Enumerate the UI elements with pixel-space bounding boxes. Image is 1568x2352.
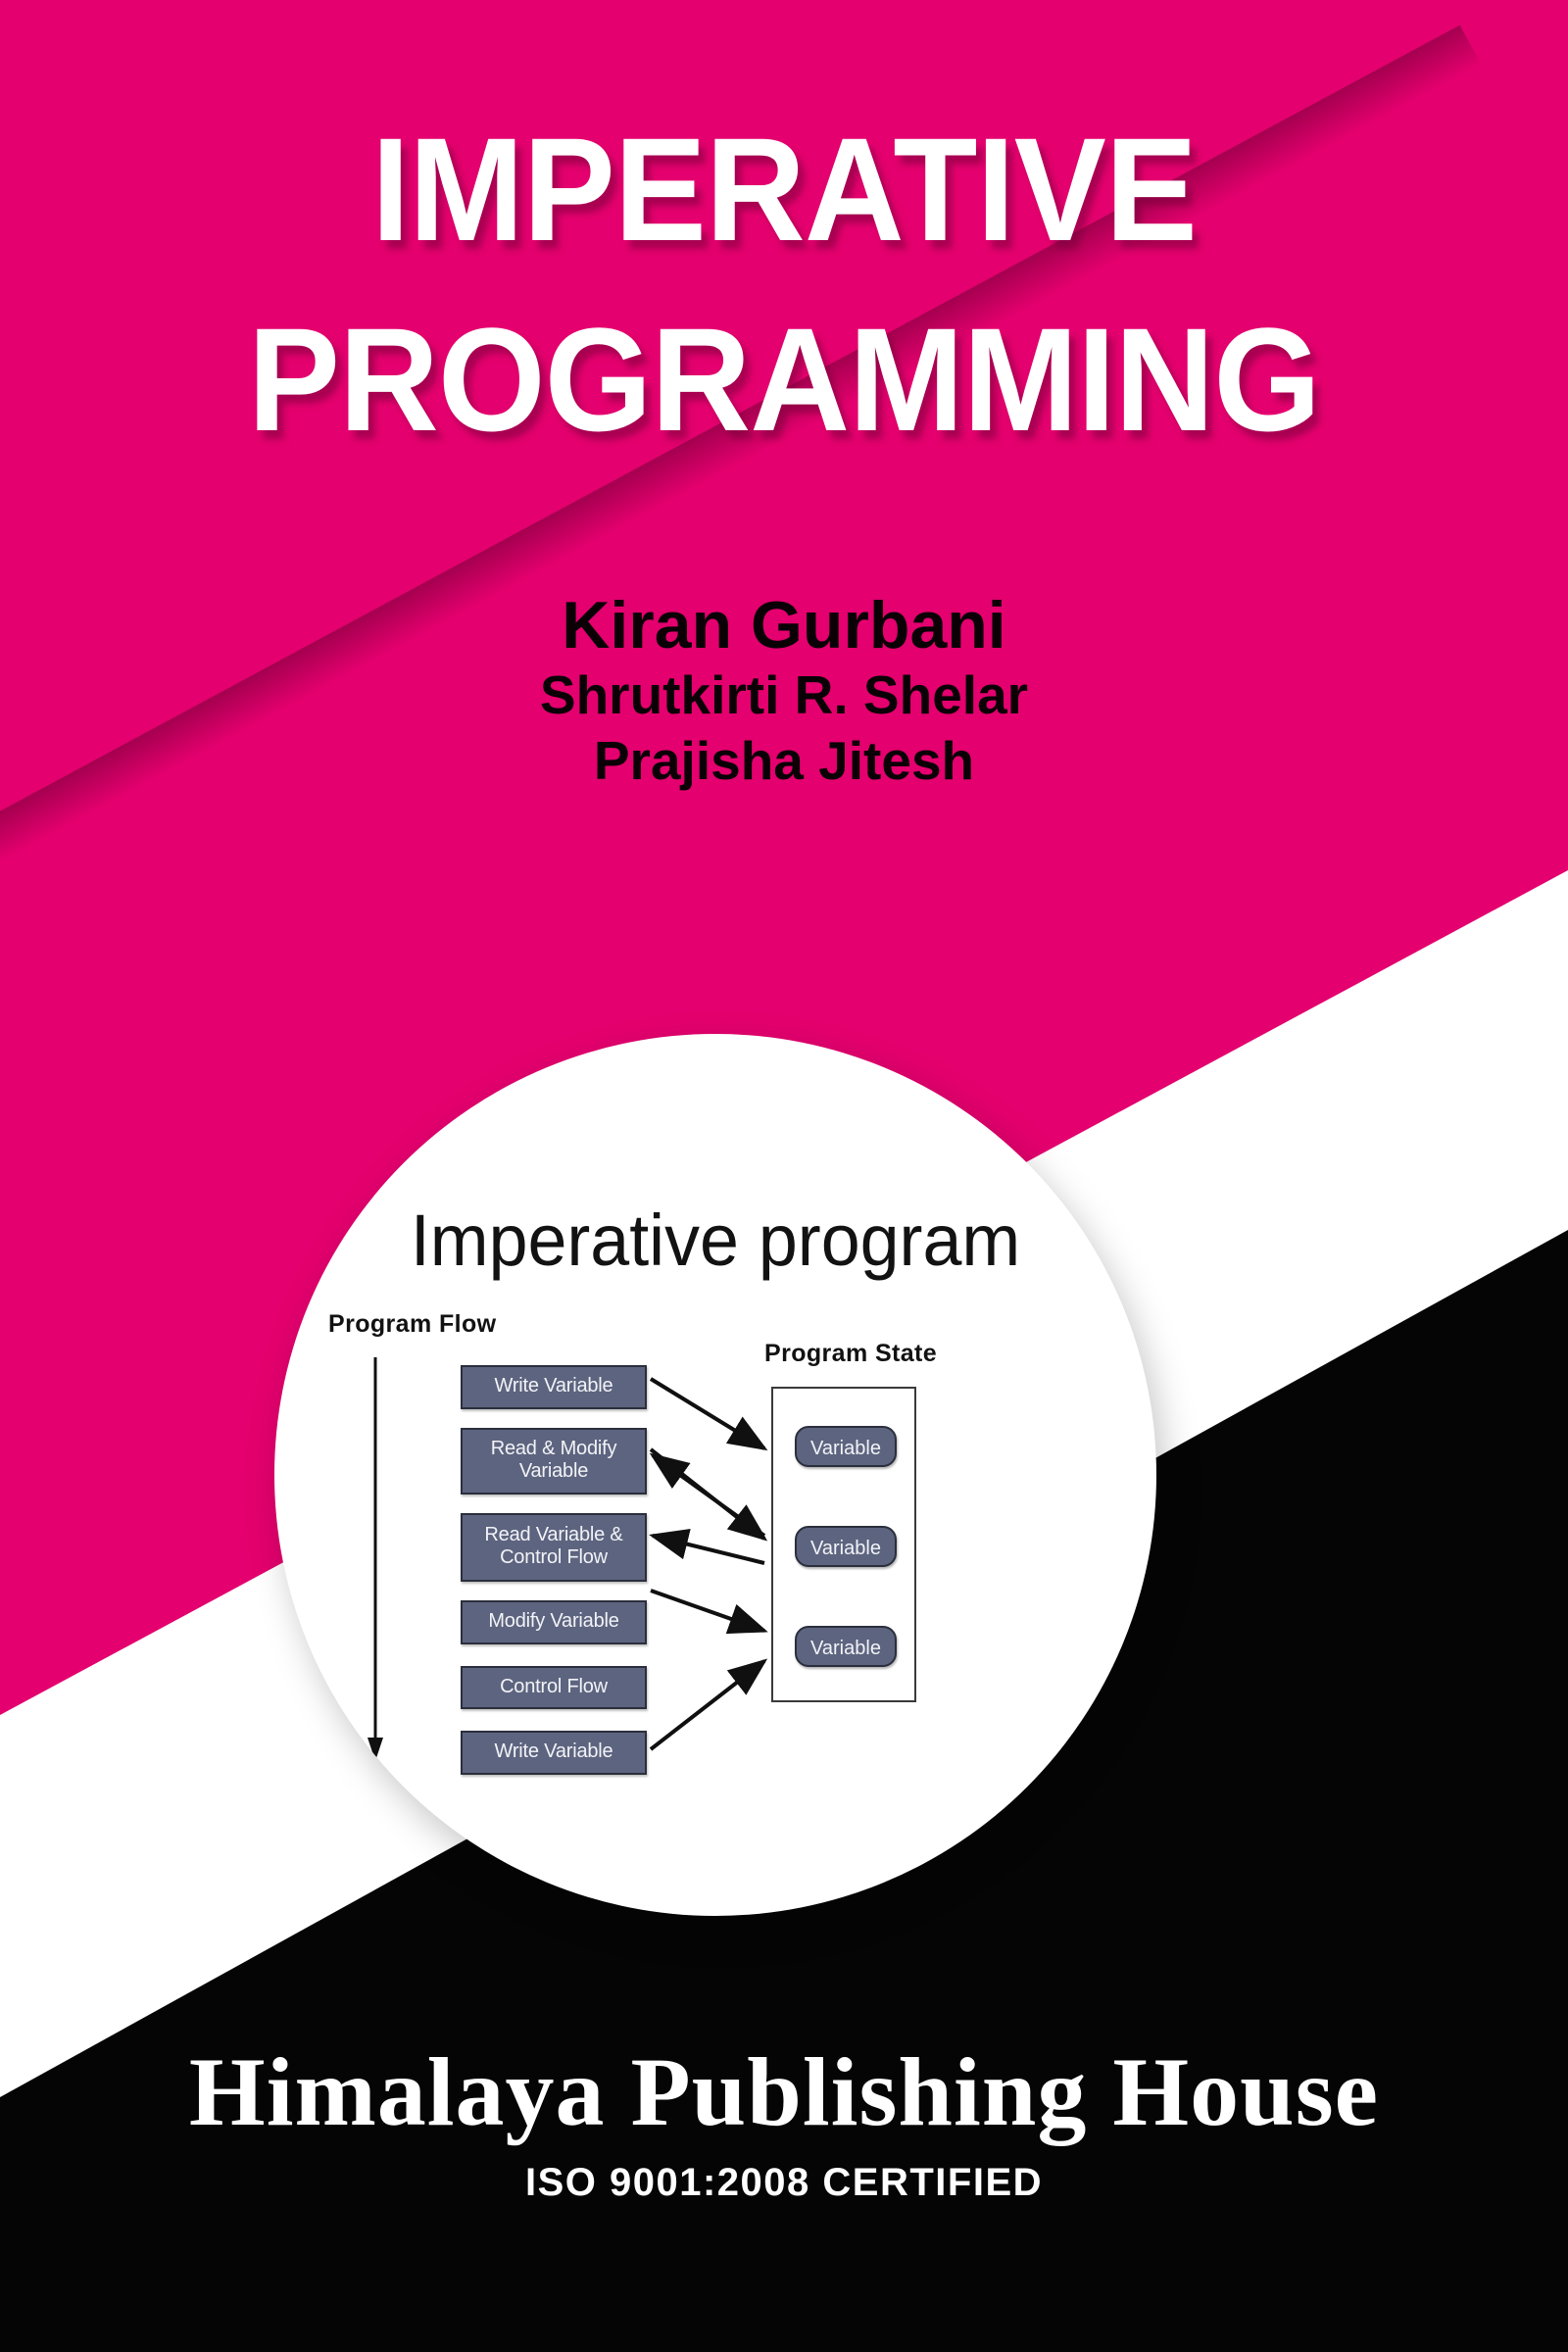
author-secondary-1: Shrutkirti R. Shelar [0,662,1568,728]
diagram-circle: Imperative program Program Flow Program … [274,1034,1156,1916]
op-box-label: Control Flow [500,1676,608,1697]
state-variable-3: Variable [795,1626,897,1667]
publisher-name: Himalaya Publishing House [0,2043,1568,2141]
title-line-1: IMPERATIVE [47,116,1521,263]
operation-box-column: Write Variable Read & Modify Variable Re… [461,1365,647,1793]
state-variable-1: Variable [795,1426,897,1467]
book-cover: IMPERATIVE PROGRAMMING Kiran Gurbani Shr… [0,0,1568,2352]
diagram-title: Imperative program [288,1199,1144,1282]
author-list: Kiran Gurbani Shrutkirti R. Shelar Praji… [0,588,1568,794]
link-modify-variable-to-var3 [651,1591,764,1631]
title-line-2: PROGRAMMING [47,306,1521,453]
link-read-modify-to-var2 [651,1449,764,1539]
link-var2-to-read-modify [653,1455,764,1536]
op-box-label: Modify Variable [488,1610,618,1632]
publisher-certification: ISO 9001:2008 CERTIFIED [0,2161,1568,2205]
op-box-write-variable-2: Write Variable [461,1731,647,1775]
op-box-label: Read & Modify Variable [491,1438,617,1483]
imperative-program-diagram: Imperative program Program Flow Program … [274,1034,1156,1916]
cover-title: IMPERATIVE PROGRAMMING [0,116,1568,453]
link-write-variable2-to-var3 [651,1661,764,1749]
op-box-label-line2: Control Flow [500,1546,608,1568]
op-box-control-flow: Control Flow [461,1666,647,1710]
op-box-read-modify-variable: Read & Modify Variable [461,1428,647,1494]
state-variable-2: Variable [795,1526,897,1567]
op-box-write-variable-1: Write Variable [461,1365,647,1409]
diagram-connector-arrows [274,1034,1156,1916]
op-box-label: Write Variable [495,1740,613,1762]
author-secondary-2: Prajisha Jitesh [0,728,1568,794]
program-state-panel: Variable Variable Variable [771,1387,916,1702]
program-state-label: Program State [764,1340,937,1368]
link-var2-to-read-control [653,1536,764,1563]
program-flow-arrow-icon [365,1357,386,1761]
author-primary: Kiran Gurbani [0,588,1568,662]
op-box-modify-variable: Modify Variable [461,1600,647,1644]
program-flow-label: Program Flow [328,1310,497,1339]
op-box-label-line1: Read Variable & [484,1524,622,1545]
op-box-label: Write Variable [495,1375,613,1396]
link-write-variable-to-var1 [651,1379,764,1448]
publisher-block: Himalaya Publishing House ISO 9001:2008 … [0,2043,1568,2205]
op-box-read-variable-control-flow: Read Variable & Control Flow [461,1513,647,1582]
